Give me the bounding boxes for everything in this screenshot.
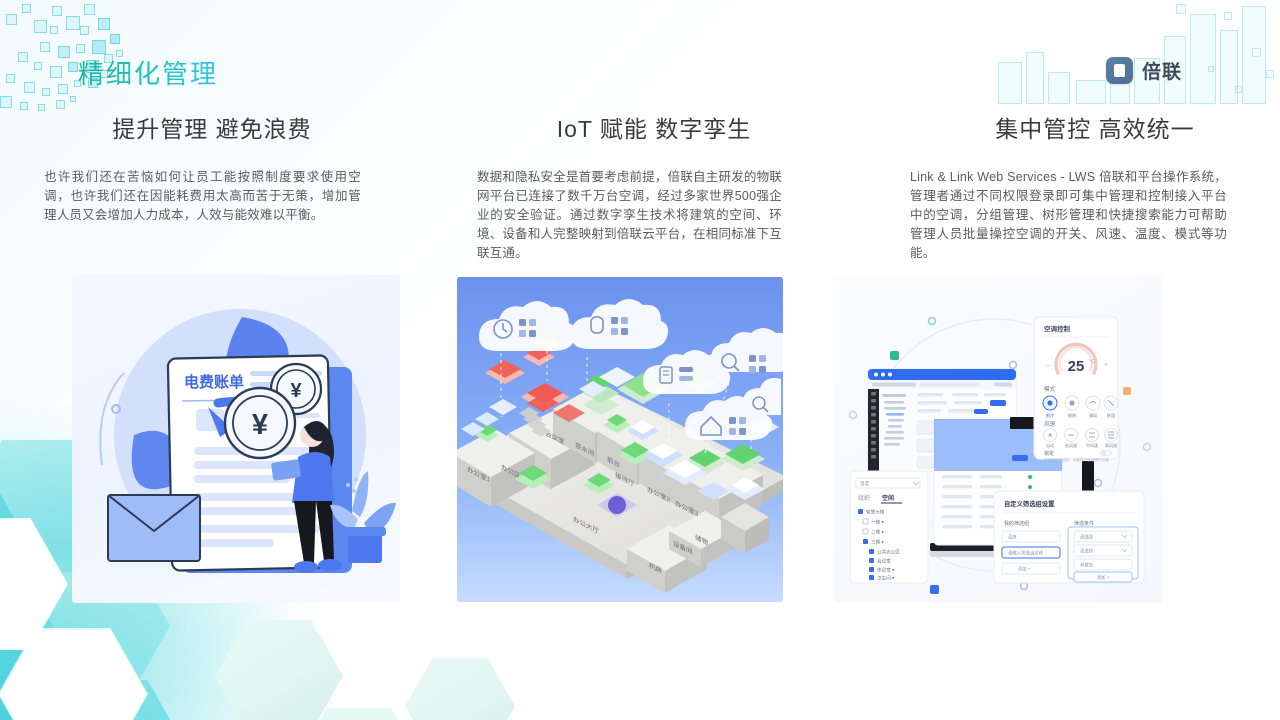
column-manage: 提升管理 避免浪费 也许我们还在苦恼如何让员工能按照制度要求使用空调，也许我们还… [27, 112, 397, 263]
column-heading: 集中管控 高效统一 [910, 112, 1280, 158]
figure-lws-console: 空调控制 25 °C – + 模式 制冷 制热 通风 [834, 275, 1162, 603]
filter-col-left: 我的筛选组 [1004, 520, 1029, 527]
column-body: 也许我们还在苦恼如何让员工能按照制度要求使用空调，也许我们还在因能耗费用太高而苦… [44, 168, 361, 260]
svg-text:高风速: 高风速 [1105, 442, 1117, 448]
column-heading: IoT 赋能 数字孪生 [469, 112, 839, 158]
filter-field: 请输入筛选组名称 [1008, 550, 1044, 557]
skyline-circuit-decoration [980, 0, 1280, 105]
tree-node: 卫生间 ▾ [877, 575, 895, 582]
decor-dot [1021, 583, 1028, 590]
tree-node: 休息室 ▾ [877, 567, 895, 574]
figure-electricity-bill: 电费账单 ¥ ¥ [72, 275, 400, 603]
tree-tab-space: 空间 [882, 494, 894, 502]
ac-card-title: 空调控制 [1044, 324, 1071, 333]
tree-node: 会议室 [877, 558, 891, 565]
ac-mode-label: 模式 [1044, 385, 1056, 393]
tree-node: 智慧大楼 [866, 509, 885, 516]
filter-settings-card: 自定义筛选组设置 我的筛选组 筛选条件 温度 请输入筛选组名称 添加 + 请选择… [994, 491, 1144, 583]
page-title: 精细化管理 [78, 54, 218, 91]
slide-canvas: 精细化管理 倍联 提升管理 避免浪费 也许我们还在苦恼如何让员工能按照制度要求使… [0, 0, 1280, 720]
filter-select: 请选择 [1080, 534, 1094, 541]
content-columns: 提升管理 避免浪费 也许我们还在苦恼如何让员工能按照制度要求使用空调，也许我们还… [0, 112, 1280, 263]
ac-lock-label: 锁定 [1044, 450, 1054, 457]
decor-dot [929, 318, 936, 325]
ac-temp-unit: °C [1089, 359, 1095, 365]
decor-dot [890, 351, 899, 360]
filter-field: 参数值 [1080, 562, 1094, 569]
tree-select-value: 温度 [860, 480, 870, 487]
svg-text:除湿: 除湿 [1107, 412, 1116, 419]
svg-text:制热: 制热 [1068, 412, 1077, 419]
temp-increase-icon: + [1104, 362, 1108, 369]
column-body: Link & Link Web Services - LWS 倍联和平台操作系统… [910, 168, 1227, 263]
filter-field: 温度 [1008, 534, 1017, 541]
beilian-logo-icon [1106, 57, 1133, 84]
ac-temperature: 25 [1068, 358, 1085, 375]
decor-dot [930, 585, 939, 594]
ac-fan-label: 风速 [1044, 421, 1056, 428]
tree-node: 一楼 ▾ [871, 519, 884, 526]
column-control: 集中管控 高效统一 Link & Link Web Services - LWS… [910, 112, 1280, 263]
column-heading: 提升管理 避免浪费 [27, 112, 397, 158]
temp-decrease-icon: – [1046, 362, 1050, 369]
bill-caption: 电费账单 [184, 373, 244, 391]
tree-tab-organization: 组织 [858, 494, 870, 502]
decor-dot [1095, 480, 1102, 487]
ac-control-card: 空调控制 25 °C – + 模式 制冷 制热 通风 [1034, 317, 1118, 462]
tree-node: 公共办公区 [877, 549, 900, 556]
svg-text:中风速: 中风速 [1086, 442, 1098, 448]
decor-dot [1123, 387, 1131, 395]
filter-card-title: 自定义筛选组设置 [1004, 499, 1055, 508]
ac-lock-hint: 开启锁定后控制，平板将不会被随行空调 [1044, 457, 1109, 462]
filter-add-button: 添加 + [1018, 566, 1031, 573]
tree-node: 三楼 ▾ [871, 539, 884, 546]
svg-text:自动: 自动 [1046, 442, 1054, 448]
filter-col-right: 筛选条件 [1074, 520, 1094, 527]
decor-dot [850, 412, 857, 419]
mint-hexagon-decoration [215, 590, 515, 720]
column-iot: IoT 赋能 数字孪生 数据和隐私安全是首要考虑前提，倍联自主研发的物联网平台已… [469, 112, 839, 263]
currency-symbol-large: ¥ [252, 409, 268, 441]
tree-node: 二楼 ▾ [871, 529, 884, 536]
brand-logo: 倍联 [1106, 57, 1182, 84]
column-body: 数据和隐私安全是首要考虑前提，倍联自主研发的物联网平台已连接了数千万台空调，经过… [477, 168, 782, 263]
currency-symbol-small: ¥ [290, 380, 302, 402]
decor-dot [1144, 444, 1151, 451]
figure-digital-twin: 办公室1 办公区 会议室 茶水间 前台 接待厅 办公室2 办公室3 办公大厅 设… [457, 277, 783, 602]
space-tree-card: 温度 组织 空间 智慧大楼 一楼 ▾ 二楼 ▾ 三楼 ▾ 公共办公区 会议室 休… [850, 471, 928, 583]
decor-dot [1010, 362, 1017, 369]
filter-add-button: 添加 + [1097, 574, 1110, 581]
brand-name: 倍联 [1142, 57, 1182, 84]
filter-select: 请选择 [1080, 548, 1094, 555]
svg-text:低风速: 低风速 [1065, 442, 1077, 448]
svg-text:制冷: 制冷 [1046, 412, 1054, 419]
svg-text:通风: 通风 [1089, 412, 1098, 419]
